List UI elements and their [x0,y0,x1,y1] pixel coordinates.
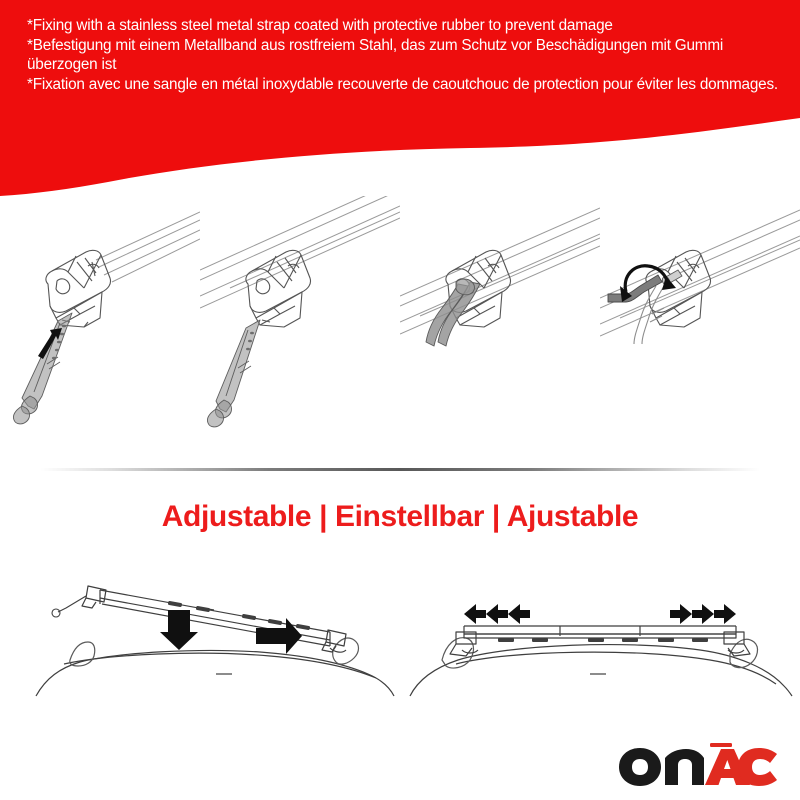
section-divider [40,468,760,471]
strap-buckle [456,279,474,295]
roof-rail [96,212,200,282]
triple-right-arrow [670,604,736,624]
logo-letter-c [738,748,777,786]
cross-bar [464,626,736,638]
roof-fig-height [0,556,400,736]
omac-logo [618,742,778,788]
car-roof-outline [36,650,394,696]
rack-foot-body [646,250,711,327]
roof-fig-width [400,556,800,736]
lead-hook [52,596,86,617]
logo-letter-m [665,749,704,785]
install-step-1 [0,196,200,458]
rack-foot-body [46,250,111,327]
install-step-4 [600,196,800,458]
banner-bullet-en: *Fixing with a stainless steel metal str… [27,16,787,36]
omac-logo-mark [618,742,778,788]
step-1-illustration [0,196,200,458]
header-banner: *Fixing with a stainless steel metal str… [0,0,800,200]
install-step-3 [400,196,600,458]
section-title-adjustable: Adjustable | Einstellbar | Ajustable [0,500,800,534]
banner-bullet-de: *Befestigung mit einem Metallband aus ro… [27,36,787,75]
roof-front-view-illustration [400,556,800,736]
step-4-illustration [600,196,800,458]
installation-steps-panel [0,196,800,458]
banner-text-block: *Fixing with a stainless steel metal str… [27,16,787,94]
install-step-2 [200,196,400,458]
roof-figures-panel [0,556,800,736]
logo-accent-macron [710,743,732,747]
logo-letter-o [619,748,661,786]
rack-foot-body [246,250,311,327]
step-2-illustration [200,196,400,458]
roof-side-view-illustration [0,556,400,736]
metal-strap [13,313,72,424]
metal-strap [207,320,260,427]
step-3-illustration [400,196,600,458]
triple-left-arrow [464,604,530,624]
banner-bullet-fr: *Fixation avec une sangle en métal inoxy… [27,75,787,95]
roof-rail [200,196,400,308]
product-info-image: *Fixing with a stainless steel metal str… [0,0,800,800]
